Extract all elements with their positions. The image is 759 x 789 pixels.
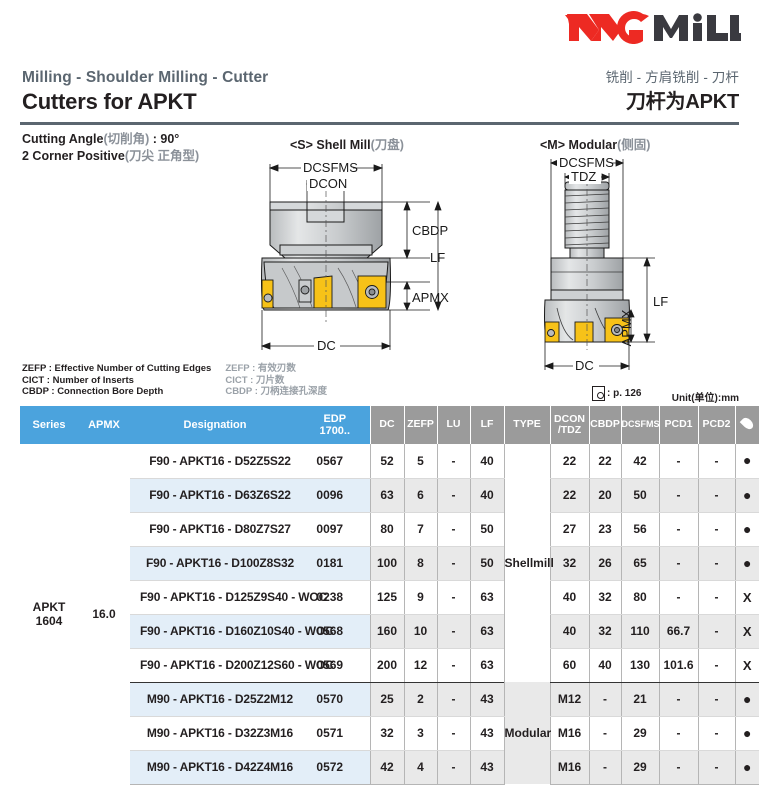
page-title: Cutters for APKT: [22, 89, 268, 115]
coolant-x-icon: [743, 589, 752, 605]
table-row[interactable]: F90 - APKT16 - D100Z8S3201811008-5032266…: [20, 546, 759, 580]
cell-lu: -: [437, 580, 470, 614]
cutting-spec: Cutting Angle(切削角) : 90° 2 Corner Positi…: [22, 131, 199, 165]
cell-pcd2: -: [698, 546, 735, 580]
cell-pcd2: -: [698, 478, 735, 512]
cell-cbdp: 32: [589, 614, 621, 648]
table-row[interactable]: F90 - APKT16 - D160Z10S40 - WOC056816010…: [20, 614, 759, 648]
cell-pcd1: -: [659, 444, 698, 478]
cell-cbdp: -: [589, 750, 621, 784]
cell-edp: 0096: [300, 478, 370, 512]
cell-lf: 43: [470, 682, 504, 716]
cell-dcsfms: 110: [621, 614, 659, 648]
cell-dcon-tdz: 22: [550, 444, 589, 478]
legend-cn: ZEFP : 有效刃数 CICT : 刀片数 CBDP : 刀柄连接孔深度: [225, 363, 327, 398]
page-header-left: Milling - Shoulder Milling - Cutter Cutt…: [22, 68, 268, 115]
th-apmx: APMX: [78, 406, 130, 444]
cell-cbdp: 26: [589, 546, 621, 580]
cell-cbdp: 22: [589, 444, 621, 478]
cell-designation: F90 - APKT16 - D63Z6S22: [130, 478, 300, 512]
page-header-right: 铣削 - 方肩铣削 - 刀杆 刀杆为APKT: [606, 68, 739, 115]
cell-dc: 80: [370, 512, 404, 546]
cell-edp: 0097: [300, 512, 370, 546]
cell-cbdp: -: [589, 682, 621, 716]
th-cbdp: CBDP: [589, 406, 621, 444]
cell-zefp: 10: [404, 614, 437, 648]
spec-line-1: Cutting Angle(切削角) : 90°: [22, 131, 199, 148]
cell-lf: 50: [470, 512, 504, 546]
cell-dcsfms: 50: [621, 478, 659, 512]
cell-pcd1: -: [659, 716, 698, 750]
coolant-hole-icon: [592, 386, 605, 401]
cell-cbdp: 32: [589, 580, 621, 614]
table-body: APKT160416.0F90 - APKT16 - D52Z5S2205675…: [20, 444, 759, 784]
cell-lu: -: [437, 546, 470, 580]
cell-coolant: [735, 580, 759, 614]
page-reference-note: : p. 126: [592, 386, 641, 401]
label-apmx-shell: APMX: [412, 290, 449, 305]
cell-dcon-tdz: M12: [550, 682, 589, 716]
cell-lu: -: [437, 648, 470, 682]
th-pcd2: PCD2: [698, 406, 735, 444]
spec-line-2-en: 2 Corner Positive: [22, 149, 125, 163]
cell-dc: 63: [370, 478, 404, 512]
label-apmx-modular: APMX: [619, 309, 634, 346]
cell-coolant: [735, 614, 759, 648]
cell-dc: 100: [370, 546, 404, 580]
cell-designation: F90 - APKT16 - D200Z12S60 - WOC: [130, 648, 300, 682]
header-divider: [20, 122, 739, 125]
cell-edp: 0570: [300, 682, 370, 716]
cell-lu: -: [437, 614, 470, 648]
table-row[interactable]: M90 - APKT16 - D32Z3M160571323-43M16-29-…: [20, 716, 759, 750]
cell-coolant: [735, 444, 759, 478]
cell-pcd2: -: [698, 682, 735, 716]
table-row[interactable]: F90 - APKT16 - D200Z12S60 - WOC056920012…: [20, 648, 759, 682]
cell-pcd1: 66.7: [659, 614, 698, 648]
coolant-dot-icon: [743, 759, 751, 775]
cell-lf: 43: [470, 750, 504, 784]
cell-dcsfms: 21: [621, 682, 659, 716]
cell-pcd1: -: [659, 546, 698, 580]
cell-cbdp: 20: [589, 478, 621, 512]
coolant-x-icon: [743, 623, 752, 639]
cell-series: APKT1604: [20, 444, 78, 784]
label-dc-shell: DC: [317, 338, 336, 353]
cell-designation: M90 - APKT16 - D32Z3M16: [130, 716, 300, 750]
cell-type-modular: Modular: [504, 682, 550, 784]
cell-dc: 25: [370, 682, 404, 716]
th-edp: EDP 1700..: [300, 406, 370, 444]
legend-cn-zefp: ZEFP : 有效刃数: [225, 363, 327, 375]
th-edp-line1: EDP: [300, 413, 370, 425]
cell-lu: -: [437, 682, 470, 716]
th-dcon-tdz: DCON /TDZ: [550, 406, 589, 444]
coolant-dot-icon: [743, 521, 751, 537]
cell-lf: 50: [470, 546, 504, 580]
cell-dcon-tdz: 60: [550, 648, 589, 682]
th-dcsfms: DCSFMS: [621, 406, 659, 444]
abbreviation-legend: ZEFP : Effective Number of Cutting Edges…: [22, 363, 327, 398]
cell-zefp: 3: [404, 716, 437, 750]
cell-coolant: [735, 682, 759, 716]
cell-edp: 0567: [300, 444, 370, 478]
spec-line-1-cn: (切削角): [103, 132, 149, 146]
table-row[interactable]: M90 - APKT16 - D42Z4M160572424-43M16-29-…: [20, 750, 759, 784]
coolant-dot-icon: [743, 487, 751, 503]
cell-designation: M90 - APKT16 - D42Z4M16: [130, 750, 300, 784]
th-type: TYPE: [504, 406, 550, 444]
cell-dc: 42: [370, 750, 404, 784]
spec-line-1-en: Cutting Angle: [22, 132, 103, 146]
cell-lu: -: [437, 750, 470, 784]
cell-apmx: 16.0: [78, 444, 130, 784]
shell-mill-diagram: DCSFMS DCON CBDP APMX LF DC: [252, 150, 452, 370]
cell-lf: 63: [470, 614, 504, 648]
cell-pcd2: -: [698, 614, 735, 648]
breadcrumb: Milling - Shoulder Milling - Cutter: [22, 68, 268, 88]
spec-line-2: 2 Corner Positive(刀尖 正角型): [22, 148, 199, 165]
th-lf: LF: [470, 406, 504, 444]
breadcrumb-cn: 铣削 - 方肩铣削 - 刀杆: [606, 68, 739, 88]
legend-en-cbdp: CBDP : Connection Bore Depth: [22, 386, 211, 398]
cell-lf: 63: [470, 648, 504, 682]
legend-en-cict: CICT : Number of Inserts: [22, 375, 211, 387]
cell-coolant: [735, 478, 759, 512]
cell-dcon-tdz: 32: [550, 546, 589, 580]
cell-pcd1: -: [659, 580, 698, 614]
cell-type-shellmill: Shellmill: [504, 444, 550, 682]
cell-dcon-tdz: 27: [550, 512, 589, 546]
th-dcon-line2: /TDZ: [551, 425, 589, 437]
spec-line-2-cn: (刀尖 正角型): [125, 149, 199, 163]
cell-dcon-tdz: 40: [550, 580, 589, 614]
cell-designation: M90 - APKT16 - D25Z2M12: [130, 682, 300, 716]
cell-edp: 0181: [300, 546, 370, 580]
cell-cbdp: 40: [589, 648, 621, 682]
modular-diagram: DCSFMS TDZ LF APMX DC: [515, 150, 725, 385]
unit-note: Unit(单位):mm: [672, 389, 739, 404]
coolant-dot-icon: [743, 452, 751, 468]
label-lf-shell: LF: [430, 250, 445, 265]
table-row[interactable]: F90 - APKT16 - D125Z9S40 - WOC02381259-6…: [20, 580, 759, 614]
cell-pcd2: -: [698, 580, 735, 614]
cell-cbdp: -: [589, 716, 621, 750]
cell-coolant: [735, 648, 759, 682]
th-edp-line2: 1700..: [300, 425, 370, 437]
spec-line-1-value: : 90°: [149, 132, 179, 146]
brand-logo: [565, 8, 741, 48]
cell-lu: -: [437, 512, 470, 546]
cell-zefp: 8: [404, 546, 437, 580]
cell-pcd2: -: [698, 716, 735, 750]
th-coolant: [735, 406, 759, 444]
cell-cbdp: 23: [589, 512, 621, 546]
legend-en: ZEFP : Effective Number of Cutting Edges…: [22, 363, 211, 398]
cell-dc: 32: [370, 716, 404, 750]
table-row[interactable]: F90 - APKT16 - D63Z6S220096636-40222050-…: [20, 478, 759, 512]
cell-dcsfms: 42: [621, 444, 659, 478]
coolant-dot-icon: [743, 555, 751, 571]
cell-pcd2: -: [698, 512, 735, 546]
cell-designation: F90 - APKT16 - D125Z9S40 - WOC: [130, 580, 300, 614]
cell-pcd1: -: [659, 478, 698, 512]
cell-lu: -: [437, 444, 470, 478]
cell-zefp: 4: [404, 750, 437, 784]
cell-dc: 160: [370, 614, 404, 648]
cell-lu: -: [437, 716, 470, 750]
cell-dcsfms: 80: [621, 580, 659, 614]
cell-coolant: [735, 512, 759, 546]
cell-zefp: 7: [404, 512, 437, 546]
cell-lf: 43: [470, 716, 504, 750]
cell-edp: 0572: [300, 750, 370, 784]
legend-en-zefp: ZEFP : Effective Number of Cutting Edges: [22, 363, 211, 375]
cell-dcsfms: 29: [621, 750, 659, 784]
cell-lf: 40: [470, 444, 504, 478]
cell-zefp: 2: [404, 682, 437, 716]
cell-dcsfms: 130: [621, 648, 659, 682]
th-zefp: ZEFP: [404, 406, 437, 444]
page-title-cn: 刀杆为APKT: [606, 89, 739, 115]
cell-zefp: 9: [404, 580, 437, 614]
coolant-x-icon: [743, 657, 752, 673]
cell-coolant: [735, 750, 759, 784]
cell-pcd1: -: [659, 750, 698, 784]
cell-dc: 200: [370, 648, 404, 682]
label-lf-modular: LF: [653, 294, 668, 309]
coolant-drop-icon: [739, 416, 755, 432]
coolant-dot-icon: [743, 691, 751, 707]
table-row[interactable]: APKT160416.0F90 - APKT16 - D52Z5S2205675…: [20, 444, 759, 478]
cell-dcsfms: 65: [621, 546, 659, 580]
cell-coolant: [735, 546, 759, 580]
cell-dcon-tdz: M16: [550, 716, 589, 750]
cell-dcsfms: 56: [621, 512, 659, 546]
cell-lf: 40: [470, 478, 504, 512]
cell-pcd2: -: [698, 750, 735, 784]
table-row[interactable]: F90 - APKT16 - D80Z7S270097807-50272356-…: [20, 512, 759, 546]
table-row[interactable]: M90 - APKT16 - D25Z2M120570252-43Modular…: [20, 682, 759, 716]
th-lu: LU: [437, 406, 470, 444]
legend-cn-cbdp: CBDP : 刀柄连接孔深度: [225, 386, 327, 398]
cell-dc: 52: [370, 444, 404, 478]
yg-mill-logo-icon: [565, 10, 741, 46]
th-series: Series: [20, 406, 78, 444]
cell-pcd2: -: [698, 648, 735, 682]
cell-dcon-tdz: M16: [550, 750, 589, 784]
label-dcsfms-shell: DCSFMS: [303, 160, 358, 175]
cell-pcd1: 101.6: [659, 648, 698, 682]
page-reference-text: : p. 126: [607, 388, 641, 399]
cell-lf: 63: [470, 580, 504, 614]
label-dcon-shell: DCON: [309, 176, 347, 191]
cell-pcd2: -: [698, 444, 735, 478]
coolant-dot-icon: [743, 725, 751, 741]
label-cbdp-shell: CBDP: [412, 223, 448, 238]
cell-designation: F90 - APKT16 - D80Z7S27: [130, 512, 300, 546]
product-table: Series APMX Designation EDP 1700.. DC ZE…: [20, 406, 759, 785]
cell-coolant: [735, 716, 759, 750]
cell-lu: -: [437, 478, 470, 512]
cell-designation: F90 - APKT16 - D100Z8S32: [130, 546, 300, 580]
cell-dcsfms: 29: [621, 716, 659, 750]
cell-zefp: 12: [404, 648, 437, 682]
cell-designation: F90 - APKT16 - D160Z10S40 - WOC: [130, 614, 300, 648]
cell-pcd1: -: [659, 682, 698, 716]
cell-zefp: 6: [404, 478, 437, 512]
label-dc-modular: DC: [575, 358, 594, 373]
cell-dcon-tdz: 22: [550, 478, 589, 512]
cell-pcd1: -: [659, 512, 698, 546]
label-tdz-modular: TDZ: [571, 169, 596, 184]
legend-cn-cict: CICT : 刀片数: [225, 375, 327, 387]
cell-dc: 125: [370, 580, 404, 614]
cell-dcon-tdz: 40: [550, 614, 589, 648]
cell-designation: F90 - APKT16 - D52Z5S22: [130, 444, 300, 478]
label-dcsfms-modular: DCSFMS: [559, 155, 614, 170]
cell-edp: 0571: [300, 716, 370, 750]
th-dc: DC: [370, 406, 404, 444]
table-header-row: Series APMX Designation EDP 1700.. DC ZE…: [20, 406, 759, 444]
th-pcd1: PCD1: [659, 406, 698, 444]
cell-zefp: 5: [404, 444, 437, 478]
th-designation: Designation: [130, 406, 300, 444]
